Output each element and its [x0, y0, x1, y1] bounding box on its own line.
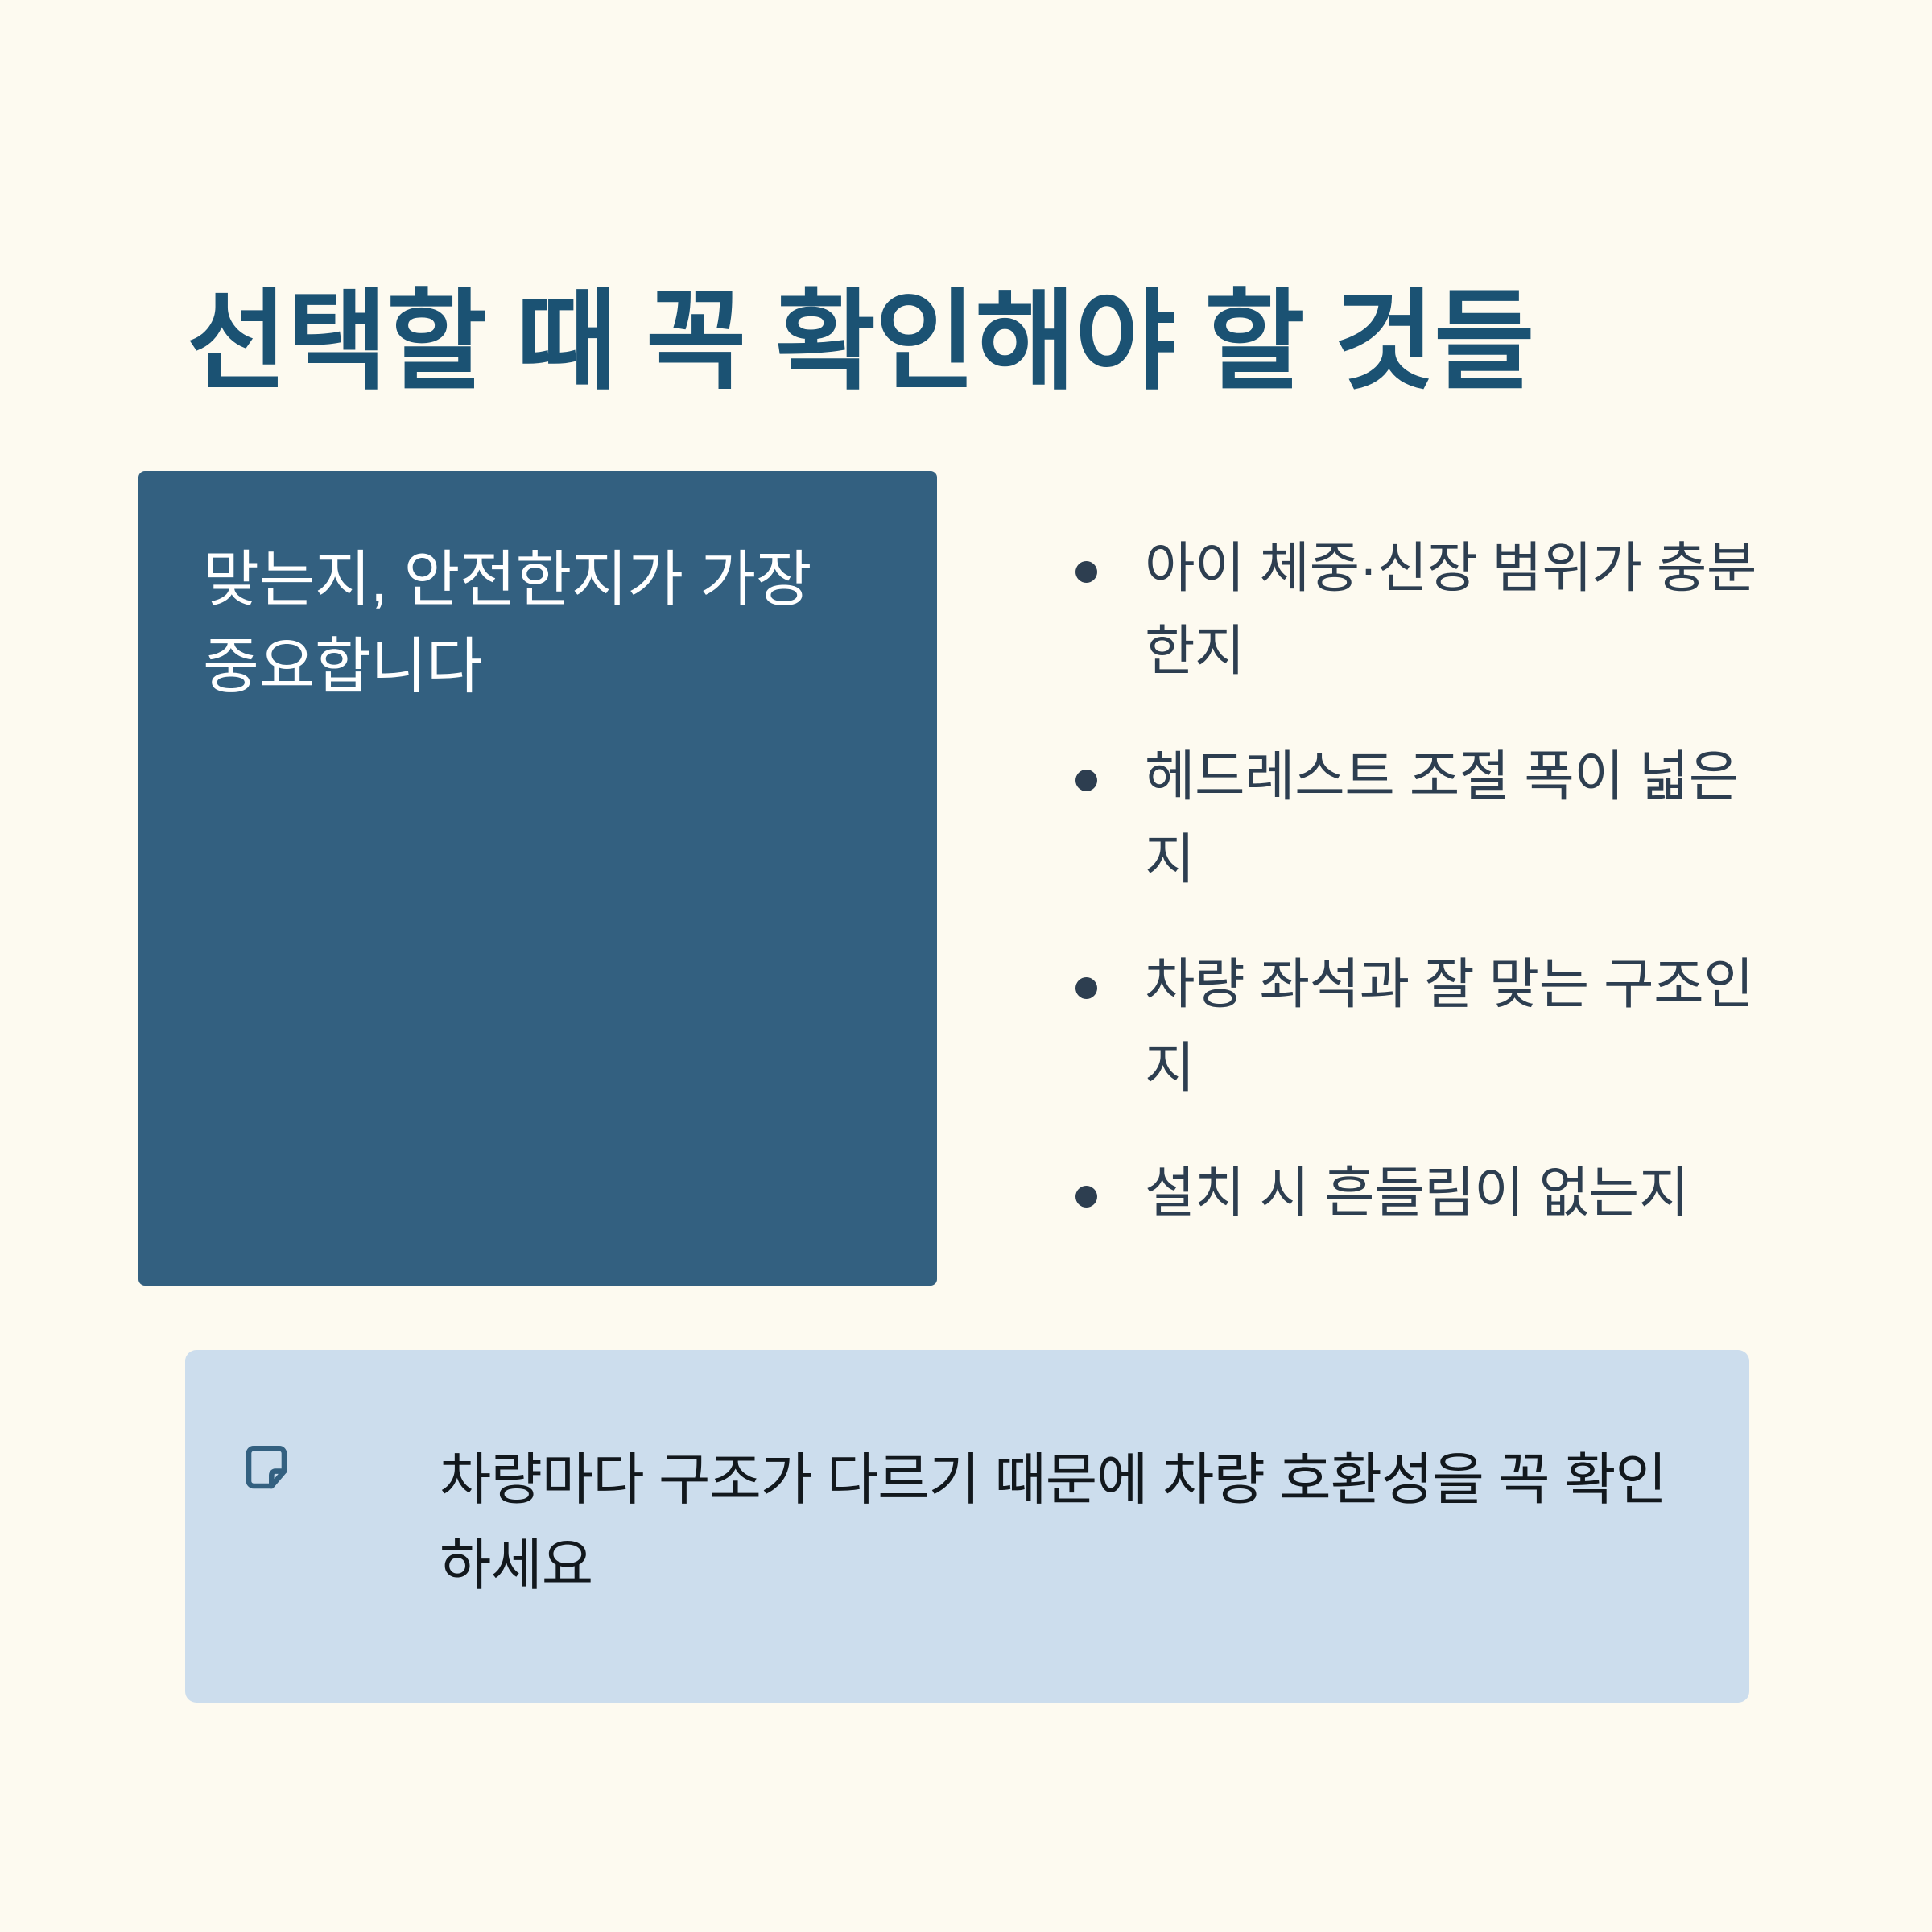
list-item: 설치 시 흔들림이 없는지 [1055, 1152, 1763, 1235]
sticky-note-icon [240, 1442, 293, 1495]
list-item: 헤드레스트 조절 폭이 넓은지 [1055, 736, 1763, 902]
list-item-label: 헤드레스트 조절 폭이 넓은지 [1145, 746, 1739, 890]
list-item-label: 설치 시 흔들림이 없는지 [1145, 1162, 1689, 1224]
highlight-panel-text: 맞는지, 안전한지가 가장 중요합니다 [203, 537, 879, 711]
bullet-dot-icon [1075, 1186, 1097, 1207]
bullet-dot-icon [1075, 977, 1097, 999]
list-item-label: 아이 체중·신장 범위가 충분한지 [1145, 538, 1757, 682]
list-item: 아이 체중·신장 범위가 충분한지 [1055, 527, 1763, 694]
list-item: 차량 좌석과 잘 맞는 구조인지 [1055, 943, 1763, 1110]
slide-root: 선택할 때 꼭 확인해야 할 것들 맞는지, 안전한지가 가장 중요합니다 아이… [0, 0, 1932, 1932]
bullet-dot-icon [1075, 770, 1097, 791]
bullet-dot-icon [1075, 561, 1097, 583]
callout-text: 차량마다 구조가 다르기 때문에 차량 호환성을 꼭 확인하세요 [240, 1437, 1693, 1608]
page-title: 선택할 때 꼭 확인해야 할 것들 [187, 271, 1765, 411]
checklist: 아이 체중·신장 범위가 충분한지 헤드레스트 조절 폭이 넓은지 차량 좌석과… [1055, 527, 1763, 1236]
callout-content: 차량마다 구조가 다르기 때문에 차량 호환성을 꼭 확인하세요 [240, 1437, 1693, 1608]
highlight-panel: 맞는지, 안전한지가 가장 중요합니다 [138, 471, 937, 1286]
callout-box: 차량마다 구조가 다르기 때문에 차량 호환성을 꼭 확인하세요 [185, 1350, 1749, 1703]
list-item-label: 차량 좌석과 잘 맞는 구조인지 [1145, 954, 1753, 1098]
